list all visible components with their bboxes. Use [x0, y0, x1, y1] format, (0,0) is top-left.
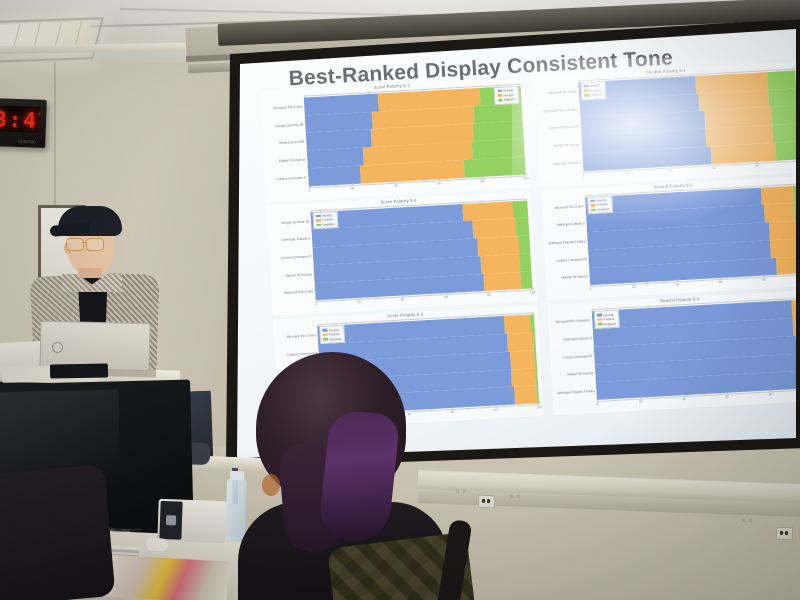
bar-group: Microsoft Phi-3 MiniGoogle Gemma 2BMeta … — [304, 86, 526, 186]
axis-tick-label: 40 — [401, 298, 405, 302]
category-label: Microsoft Phi-3 Mini — [287, 333, 316, 339]
legend-swatch-icon — [591, 199, 596, 202]
category-label: Mistral 7B Instruct — [279, 158, 306, 163]
category-label: Microsoft Phi-3 Mini — [273, 105, 302, 111]
category-label: Mistral 7B Instruct — [286, 272, 313, 277]
outlet-label: s s — [510, 494, 521, 500]
legend-swatch-icon — [316, 219, 321, 222]
foreground-chair — [0, 464, 115, 600]
bar-segment-negative — [519, 253, 531, 271]
category-label: Microsoft Phi-3 Mini — [284, 290, 313, 296]
legend-label: Negative — [504, 97, 516, 102]
plot-area: Microsoft Phi-3 MiniAnthropic Claude 3An… — [585, 183, 800, 287]
mini-chart-1: Score Polarity 5-1Microsoft Phi-3 MiniGo… — [259, 76, 530, 201]
category-label: Cohere Command R — [281, 254, 311, 260]
legend-item: Negative — [317, 222, 335, 227]
chart-legend: NeutralPositiveNegative — [319, 325, 345, 344]
category-label: Anthropic Claude 3 — [557, 222, 585, 228]
category-label: Microsoft Phi-3 Mini — [548, 89, 577, 95]
plot-area: Microsoft Phi-3 MediumAnthropic Claude 3… — [592, 297, 800, 401]
bar-segment-positive — [764, 203, 795, 222]
seated-student — [246, 352, 466, 600]
clock-time: 8:47 — [0, 107, 40, 133]
axis-tick-label: 80 — [487, 293, 491, 297]
outlet-label: s s — [742, 518, 753, 524]
bar-segment-negative — [534, 350, 537, 368]
axis-tick-label: 0 — [308, 188, 310, 192]
papers-stack — [101, 555, 229, 600]
bar-segment-negative — [768, 88, 797, 107]
category-label: Microsoft Phi-3 Medium — [556, 318, 591, 324]
axis-tick-label: 60 — [725, 395, 729, 399]
bar-segment-positive — [770, 238, 799, 257]
bar-segment-negative — [515, 218, 529, 236]
bar-segment-negative — [533, 332, 536, 350]
chart-legend: NeutralPositiveNegative — [594, 310, 620, 329]
mini-chart-4: Neutral Polarity 5-2Microsoft Phi-3 Mini… — [541, 176, 800, 301]
legend-swatch-icon — [323, 333, 328, 336]
axis-tick-label: 60 — [437, 181, 441, 185]
mouse[interactable] — [146, 537, 169, 552]
desktop-device[interactable] — [157, 499, 226, 543]
axis-tick-label: 40 — [675, 283, 679, 287]
axis-tick-label: 0 — [596, 402, 598, 406]
category-label: Meta Llama 3 8B — [279, 140, 304, 145]
axis-tick-label: 80 — [481, 178, 485, 182]
legend-swatch-icon — [317, 224, 322, 227]
legend-item: Negative — [598, 321, 616, 326]
clock-display: 8:47 — [0, 105, 40, 133]
legend-swatch-icon — [584, 85, 589, 88]
axis-tick-label: 20 — [632, 285, 636, 289]
axis-tick-label: 60 — [444, 295, 448, 299]
plot-area: Microsoft Phi-3 MiniGoogle Gemma 2BMeta … — [304, 84, 526, 188]
bar-segment-positive — [480, 254, 520, 274]
category-label: Cohere Command R — [276, 175, 306, 181]
axis-tick-label: 40 — [682, 397, 686, 401]
category-label: Microsoft Phi-3 Mini — [555, 204, 584, 210]
axis-tick-label: 20 — [351, 186, 355, 190]
chart-legend: NeutralPositiveNegative — [587, 195, 613, 214]
bar-segment-positive — [484, 272, 522, 292]
bar-segment-positive — [769, 221, 798, 240]
bar-segment-negative — [535, 368, 538, 386]
category-label: Google Gemma 2B — [281, 219, 309, 225]
bar-segment-negative — [772, 124, 799, 143]
chart-legend: NeutralPositiveNegative — [494, 86, 520, 105]
legend-swatch-icon — [498, 99, 503, 102]
axis-tick-label: 20 — [639, 399, 643, 403]
axis-tick-label: 100 — [537, 405, 543, 409]
category-label: Anthropic Claude 3 — [563, 336, 591, 342]
axis-tick-label: 20 — [625, 170, 629, 174]
axis-tick-label: 100 — [530, 290, 536, 294]
chart-legend: NeutralPositiveNegative — [313, 211, 339, 230]
plot-area: Google Gemma 2BAnthropic Claude 3Cohere … — [310, 198, 532, 302]
axis-tick-label: 60 — [719, 280, 723, 284]
legend-label: Negative — [590, 93, 602, 98]
axis-tick-label: 80 — [494, 407, 498, 411]
mini-chart-3: Score Polarity 5-2Google Gemma 2BAnthrop… — [266, 191, 537, 316]
water-bottle — [225, 478, 247, 543]
bar-segment-positive — [477, 236, 519, 256]
bar-segment-negative — [512, 200, 528, 219]
category-label: Cohere Command R — [562, 354, 592, 360]
bar-segment-negative — [464, 156, 526, 177]
category-label: Microsoft Phi-3 Medium — [543, 107, 578, 113]
legend-item: Negative — [498, 97, 516, 102]
digital-wall-clock: 8:47 CHRONO — [0, 99, 46, 147]
legend-swatch-icon — [584, 94, 589, 97]
bar-group: Microsoft Phi-3 MiniAnthropic Claude 3An… — [585, 185, 800, 285]
category-label: Anthropic Claude 3 — [553, 160, 581, 166]
bar-group: Microsoft Phi-3 MiniMicrosoft Phi-3 Medi… — [578, 71, 800, 171]
ceiling-light-frame — [0, 17, 104, 63]
wall-outlet[interactable] — [776, 527, 793, 541]
category-label: Anthropic Claude 3 Haiku — [548, 239, 586, 245]
legend-swatch-icon — [323, 329, 328, 332]
legend-label: Negative — [329, 337, 341, 342]
axis-tick-label: 80 — [755, 163, 759, 167]
legend-swatch-icon — [584, 89, 589, 92]
plot-area: Microsoft Phi-3 MiniMicrosoft Phi-3 Medi… — [578, 69, 800, 173]
bar-segment-negative — [536, 385, 539, 403]
legend-swatch-icon — [598, 318, 603, 321]
bar-segment-negative — [520, 271, 532, 289]
bar-segment-positive — [761, 185, 795, 204]
legend-swatch-icon — [598, 323, 603, 326]
axis-tick-label: 0 — [583, 173, 585, 177]
legend-swatch-icon — [497, 94, 502, 97]
legend-label: Negative — [604, 321, 616, 326]
legend-label: Negative — [322, 222, 334, 227]
category-label: Google Gemma 2B — [275, 122, 303, 128]
bar-segment-negative — [518, 236, 530, 254]
presenter-glasses — [66, 238, 106, 250]
legend-item: Negative — [591, 207, 609, 212]
clock-brand: CHRONO — [18, 139, 36, 145]
axis-tick-label: 0 — [315, 303, 317, 307]
bar-segment-positive — [507, 332, 534, 351]
axis-tick-label: 80 — [762, 278, 766, 282]
category-label: Anthropic Claude 3 — [282, 237, 310, 243]
legend-item: Negative — [323, 337, 341, 342]
category-label: Cohere Command R — [549, 125, 579, 131]
far-monitor-dark — [50, 363, 108, 378]
mini-chart-6: Neutral Polarity 5-3Microsoft Phi-3 Medi… — [547, 290, 800, 415]
mini-chart-2: Neutral Polarity 5-1Microsoft Phi-3 Mini… — [534, 61, 800, 186]
legend-item: Negative — [584, 93, 602, 98]
axis-tick-label: 0 — [590, 287, 592, 291]
axis-tick-label: 20 — [357, 300, 361, 304]
bar-segment-negative — [771, 106, 798, 125]
category-label: Mistral 7B Instruct — [567, 371, 594, 376]
axis-tick-label: 60 — [712, 166, 716, 170]
wall-outlet[interactable] — [478, 495, 495, 509]
legend-swatch-icon — [591, 208, 596, 211]
axis-tick-label: 80 — [769, 392, 773, 396]
category-label: Mistral 7B Instruct — [561, 275, 588, 280]
axis-tick-label: 40 — [394, 183, 398, 187]
axis-tick-label: 100 — [523, 176, 529, 180]
bar-segment-positive — [504, 315, 531, 334]
legend-swatch-icon — [497, 90, 502, 93]
bar-segment-negative — [767, 71, 796, 90]
legend-swatch-icon — [591, 204, 596, 207]
legend-label: Negative — [597, 207, 609, 212]
classroom-scene: s s s s s s 8:47 CHRONO Best-Ranked Disp… — [0, 0, 800, 600]
legend-swatch-icon — [316, 214, 321, 217]
axis-tick-label: 40 — [669, 168, 673, 172]
bar-group: Google Gemma 2BAnthropic Claude 3Cohere … — [311, 200, 533, 300]
bar-segment-positive — [710, 143, 776, 164]
category-label: Cohere Command R — [556, 257, 586, 263]
bar-group: Microsoft Phi-3 MediumAnthropic Claude 3… — [592, 299, 800, 399]
bar-segment-negative — [530, 315, 535, 333]
chart-legend: NeutralPositiveNegative — [580, 81, 606, 100]
category-label: Mistral 7B Instruct — [554, 143, 581, 148]
legend-swatch-icon — [597, 314, 602, 317]
category-label: Anthropic Claude 3 Haiku — [557, 389, 595, 395]
bar-segment-positive — [511, 368, 536, 387]
bar-segment-positive — [510, 350, 535, 369]
bar-segment-neutral — [308, 166, 361, 187]
legend-swatch-icon — [323, 338, 328, 341]
student-ear-far — [262, 474, 280, 496]
bar-segment-positive — [514, 386, 537, 405]
